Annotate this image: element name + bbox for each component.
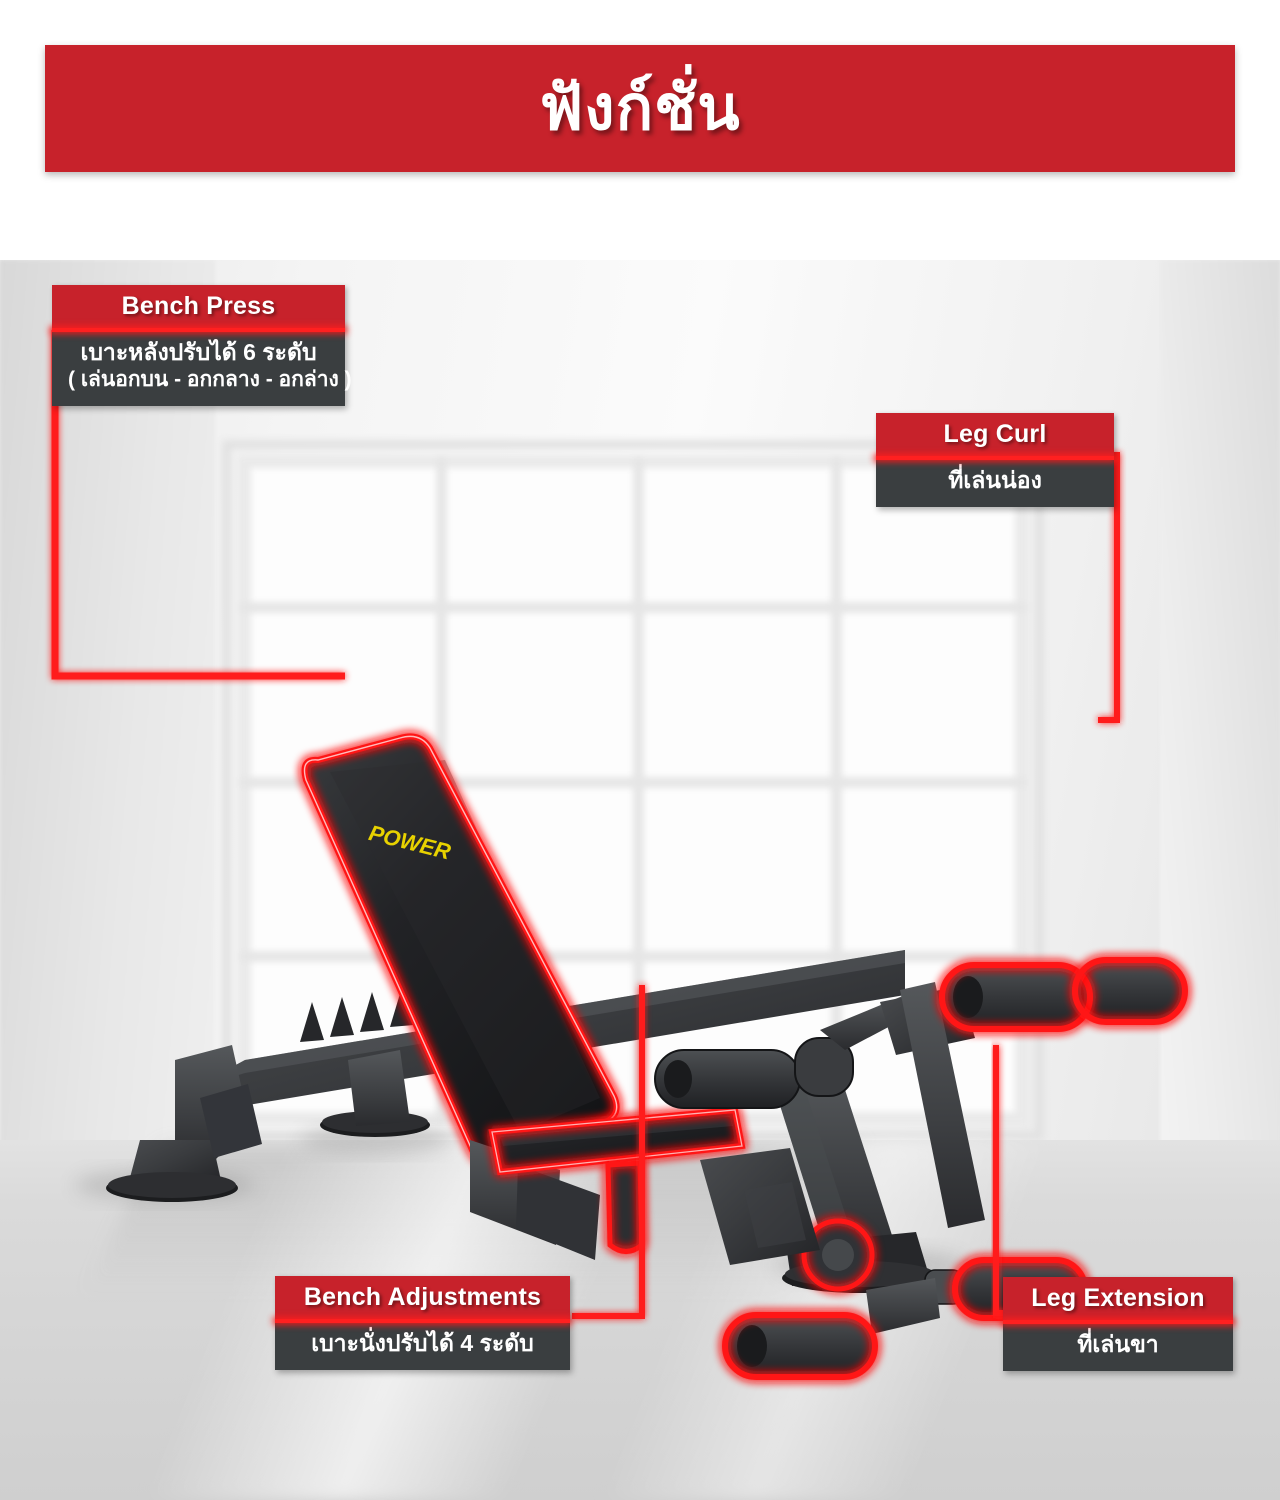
callout-leg-extension-line1: ที่เล่นขา bbox=[1019, 1330, 1217, 1359]
callout-bench-press-title: Bench Press bbox=[52, 285, 345, 329]
callout-bench-adjustments[interactable]: Bench Adjustments เบาะนั่งปรับได้ 4 ระดั… bbox=[275, 1276, 570, 1370]
callout-bench-adjustments-body: เบาะนั่งปรับได้ 4 ระดับ bbox=[275, 1320, 570, 1370]
callout-bench-press-body: เบาะหลังปรับได้ 6 ระดับ ( เล่นอกบน - อกก… bbox=[52, 329, 345, 406]
callout-bench-adjustments-title: Bench Adjustments bbox=[275, 1276, 570, 1320]
callout-bench-press[interactable]: Bench Press เบาะหลังปรับได้ 6 ระดับ ( เล… bbox=[52, 285, 345, 406]
callout-leg-curl[interactable]: Leg Curl ที่เล่นน่อง bbox=[876, 413, 1114, 507]
infographic-page: ฟังก์ชั่น bbox=[0, 0, 1280, 1500]
page-title: ฟังก์ชั่น bbox=[539, 78, 740, 140]
backrest-pad: POWER bbox=[305, 736, 617, 1161]
callout-leg-curl-title: Leg Curl bbox=[876, 413, 1114, 457]
leg-curl-rollers bbox=[942, 960, 1185, 1029]
callout-bench-press-line1: เบาะหลังปรับได้ 6 ระดับ bbox=[68, 338, 329, 367]
header-banner: ฟังก์ชั่น bbox=[45, 45, 1235, 172]
callout-leg-extension[interactable]: Leg Extension ที่เล่นขา bbox=[1003, 1277, 1233, 1371]
callout-leg-curl-body: ที่เล่นน่อง bbox=[876, 457, 1114, 507]
callout-leg-extension-title: Leg Extension bbox=[1003, 1277, 1233, 1321]
callout-bench-press-line2: ( เล่นอกบน - อกกลาง - อกล่าง ) bbox=[68, 367, 329, 394]
seat-adjustment-pin bbox=[608, 1163, 642, 1252]
callout-leg-curl-line1: ที่เล่นน่อง bbox=[892, 466, 1098, 495]
callout-leg-extension-body: ที่เล่นขา bbox=[1003, 1321, 1233, 1371]
callout-bench-adjustments-line1: เบาะนั่งปรับได้ 4 ระดับ bbox=[291, 1329, 554, 1358]
